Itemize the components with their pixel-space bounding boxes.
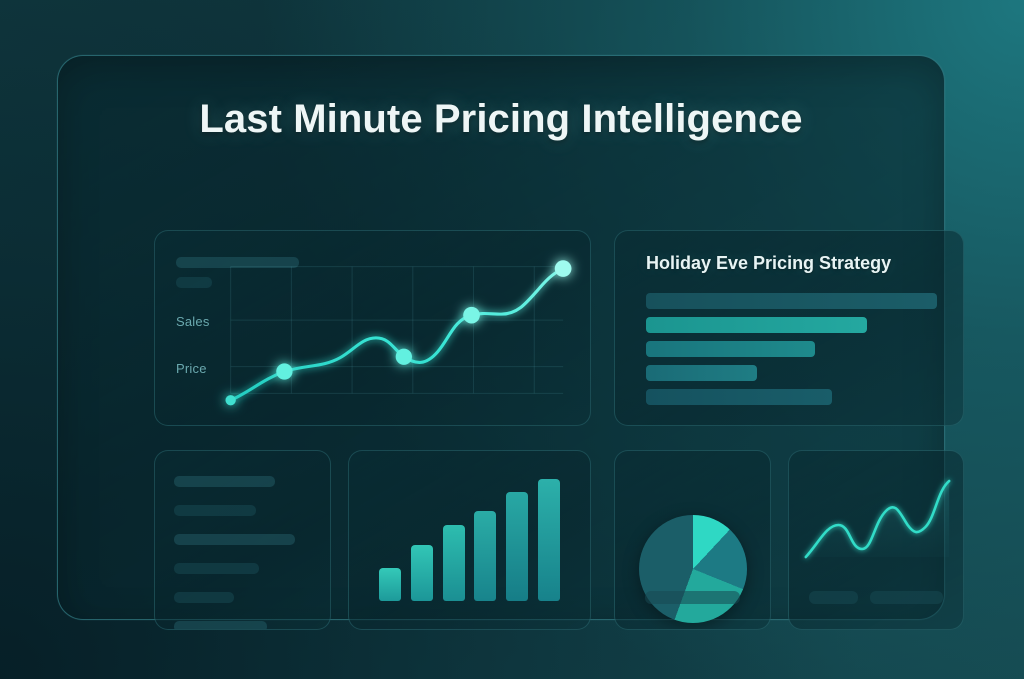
strategy-bar [646, 365, 757, 381]
chart-bar [379, 568, 401, 601]
placeholder-line [174, 592, 234, 603]
share-pie-chart-card[interactable] [614, 450, 771, 630]
strategy-bar [646, 389, 832, 405]
pie-chart [639, 515, 747, 623]
trend-sparkline-card[interactable] [788, 450, 964, 630]
page-title: Last Minute Pricing Intelligence [58, 97, 944, 142]
placeholder-line [174, 621, 267, 630]
sparkline-caption-list [809, 591, 943, 604]
strategy-bar [646, 317, 867, 333]
line-chart-plot [155, 231, 590, 425]
strategy-bar [646, 293, 937, 309]
holiday-eve-pricing-strategy-card[interactable]: Holiday Eve Pricing Strategy [614, 230, 964, 426]
chart-bar [443, 525, 465, 601]
text-placeholder-card[interactable] [154, 450, 331, 630]
sparkline-caption [809, 591, 858, 604]
placeholder-line [174, 476, 275, 487]
trend-data-points [225, 260, 571, 405]
sales-price-trend-card[interactable]: Sales Price [154, 230, 591, 426]
strategy-card-title: Holiday Eve Pricing Strategy [646, 253, 891, 274]
sparkline-plot [789, 469, 963, 579]
placeholder-line [174, 534, 295, 545]
chart-bar [506, 492, 528, 601]
chart-bar [474, 511, 496, 601]
chart-bar [538, 479, 560, 601]
strategy-bar [646, 341, 815, 357]
screenshot-stage: Last Minute Pricing Intelligence Sales P… [0, 0, 1024, 679]
dashboard-panel: Last Minute Pricing Intelligence Sales P… [57, 55, 945, 620]
bar-chart-plot [379, 479, 560, 601]
placeholder-line [174, 563, 259, 574]
sparkline-caption [870, 591, 943, 604]
pie-caption-placeholder [645, 591, 740, 604]
trend-line [231, 269, 563, 401]
placeholder-line [174, 505, 256, 516]
placeholder-line-list [174, 476, 311, 630]
growth-bar-chart-card[interactable] [348, 450, 591, 630]
chart-bar [411, 545, 433, 601]
sparkline-area-fill [806, 481, 949, 557]
strategy-bar-list [646, 293, 937, 413]
